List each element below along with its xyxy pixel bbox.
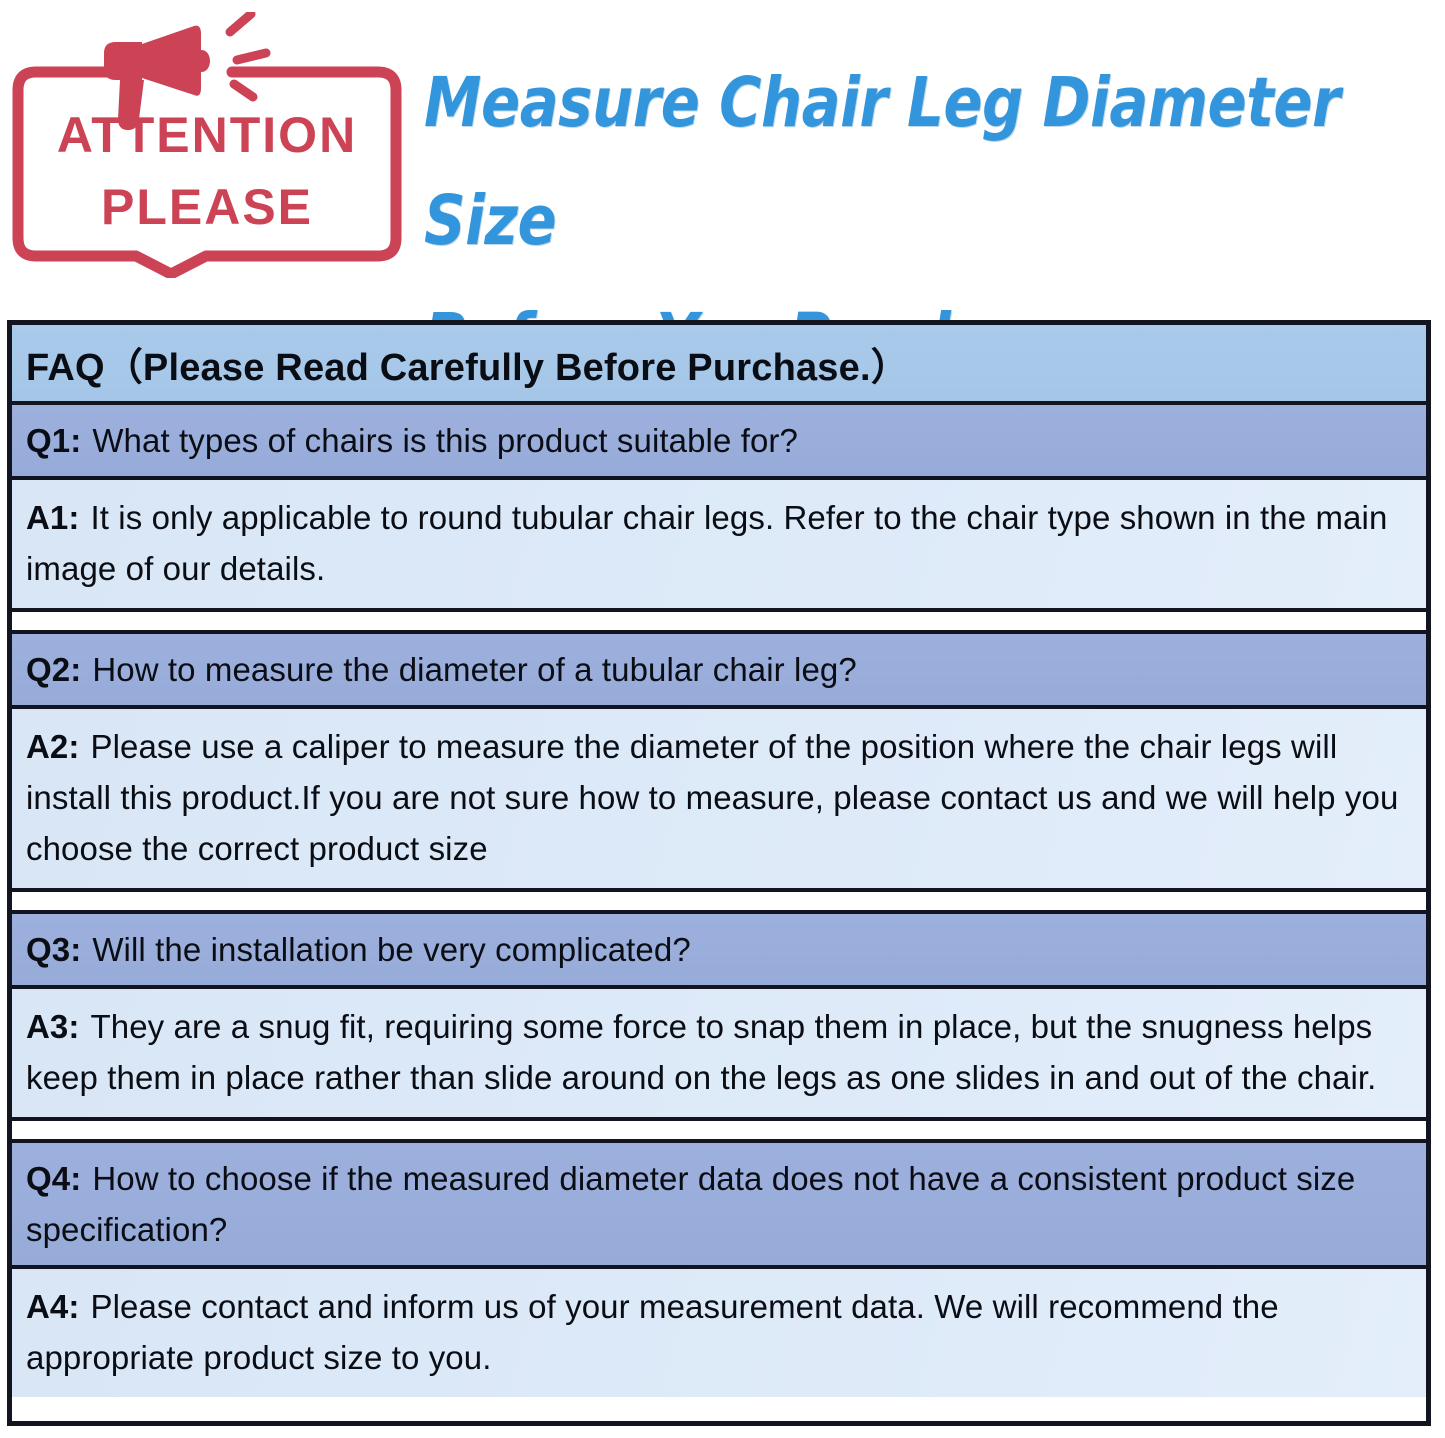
- faq-answer-body: Please contact and inform us of your mea…: [26, 1288, 1279, 1376]
- faq-table-header: FAQ（Please Read Carefully Before Purchas…: [12, 325, 1426, 405]
- faq-answer-body: It is only applicable to round tubular c…: [26, 499, 1387, 587]
- faq-answer-label: A2:: [26, 728, 79, 765]
- megaphone-waves-icon: [230, 14, 266, 97]
- faq-question-label: Q4:: [26, 1160, 81, 1197]
- faq-question-label: Q3:: [26, 931, 81, 968]
- faq-question-text: Q2:How to measure the diameter of a tubu…: [26, 644, 857, 695]
- faq-answer-text: A3:They are a snug fit, requiring some f…: [26, 1001, 1412, 1103]
- attention-line1: ATTENTION: [57, 107, 357, 163]
- faq-answer-text: A4:Please contact and inform us of your …: [26, 1281, 1412, 1383]
- faq-question-label: Q1:: [26, 422, 81, 459]
- faq-question-row[interactable]: Q4:How to choose if the measured diamete…: [12, 1143, 1426, 1269]
- faq-spacer: [12, 612, 1426, 634]
- faq-question-row[interactable]: Q3:Will the installation be very complic…: [12, 914, 1426, 989]
- faq-question-text: Q3:Will the installation be very complic…: [26, 924, 691, 975]
- attention-please-badge: ATTENTION PLEASE: [8, 12, 406, 278]
- header-banner: ATTENTION PLEASE Measure Chair Leg Diame…: [0, 0, 1445, 300]
- faq-question-body: How to choose if the measured diameter d…: [26, 1160, 1355, 1248]
- faq-answer-label: A1:: [26, 499, 79, 536]
- faq-answer-label: A3:: [26, 1008, 79, 1045]
- faq-question-row[interactable]: Q2:How to measure the diameter of a tubu…: [12, 634, 1426, 709]
- faq-answer-body: They are a snug fit, requiring some forc…: [26, 1008, 1376, 1096]
- faq-spacer: [12, 1121, 1426, 1143]
- faq-table: FAQ（Please Read Carefully Before Purchas…: [7, 320, 1431, 1426]
- faq-question-label: Q2:: [26, 651, 81, 688]
- attention-badge-graphic: ATTENTION PLEASE: [8, 12, 406, 278]
- faq-answer-row: A1:It is only applicable to round tubula…: [12, 480, 1426, 612]
- faq-question-text: Q1:What types of chairs is this product …: [26, 415, 798, 466]
- faq-answer-row: A4:Please contact and inform us of your …: [12, 1269, 1426, 1397]
- faq-answer-body: Please use a caliper to measure the diam…: [26, 728, 1398, 867]
- faq-question-text: Q4:How to choose if the measured diamete…: [26, 1153, 1412, 1255]
- faq-question-body: What types of chairs is this product sui…: [92, 422, 798, 459]
- faq-answer-label: A4:: [26, 1288, 79, 1325]
- faq-answer-row: A3:They are a snug fit, requiring some f…: [12, 989, 1426, 1121]
- faq-answer-text: A2:Please use a caliper to measure the d…: [26, 721, 1412, 874]
- faq-question-row[interactable]: Q1:What types of chairs is this product …: [12, 405, 1426, 480]
- faq-spacer: [12, 892, 1426, 914]
- faq-answer-text: A1:It is only applicable to round tubula…: [26, 492, 1412, 594]
- faq-answer-row: A2:Please use a caliper to measure the d…: [12, 709, 1426, 892]
- faq-question-body: How to measure the diameter of a tubular…: [92, 651, 857, 688]
- faq-title-label: FAQ（Please Read Carefully Before Purchas…: [26, 336, 909, 391]
- faq-question-body: Will the installation be very complicate…: [92, 931, 690, 968]
- attention-line2: PLEASE: [101, 179, 313, 235]
